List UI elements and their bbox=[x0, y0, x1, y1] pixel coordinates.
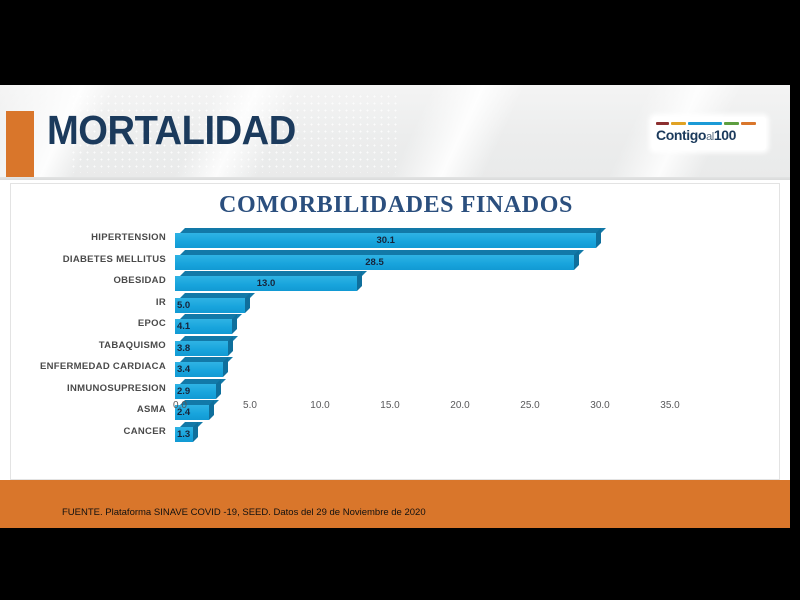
bar-category-label: EPOC bbox=[11, 314, 166, 334]
screenshot-canvas: MORTALIDAD Contigoal100 COMORBILIDADES F… bbox=[0, 0, 800, 600]
logo-dash-2 bbox=[688, 122, 722, 125]
x-axis-tick-label: 25.0 bbox=[520, 400, 539, 411]
bar-side-face bbox=[228, 336, 233, 356]
bar-side-face bbox=[357, 271, 362, 291]
bar-category-label: DIABETES MELLITUS bbox=[11, 250, 166, 270]
x-axis-tick-label: 5.0 bbox=[243, 400, 257, 411]
bar-category-label: ENFERMEDAD CARDIACA bbox=[11, 357, 166, 377]
logo-word-al: al bbox=[706, 131, 714, 143]
logo-dash-4 bbox=[741, 122, 756, 125]
x-axis-tick-label: 15.0 bbox=[380, 400, 399, 411]
bar[interactable]: 3.4 bbox=[175, 357, 228, 377]
bar-value-label: 4.1 bbox=[177, 319, 232, 334]
bar-value-label: 5.0 bbox=[177, 298, 245, 313]
bar-side-face bbox=[232, 314, 237, 334]
logo-dash-0 bbox=[656, 122, 669, 125]
logo-word-contigo: Contigo bbox=[656, 127, 706, 143]
page-title: MORTALIDAD bbox=[47, 110, 296, 151]
logo-dash-1 bbox=[671, 122, 686, 125]
bar-row: TABAQUISMO3.8 bbox=[11, 336, 781, 356]
bar-row: CANCER1.3 bbox=[11, 422, 781, 442]
bar-row: IR5.0 bbox=[11, 293, 781, 313]
chart-title: COMORBILIDADES FINADOS bbox=[11, 192, 781, 219]
bar-chart-plot-area: HIPERTENSION30.1DIABETES MELLITUS28.5OBE… bbox=[11, 228, 781, 478]
bar-value-label: 30.1 bbox=[175, 233, 596, 248]
logo-dash-3 bbox=[724, 122, 739, 125]
bar-row: ENFERMEDAD CARDIACA3.4 bbox=[11, 357, 781, 377]
bar-value-label: 1.3 bbox=[177, 427, 197, 442]
bar[interactable]: 2.9 bbox=[175, 379, 221, 399]
contigo-al-100-logo: Contigoal100 bbox=[652, 117, 766, 150]
slide-header: MORTALIDAD Contigoal100 bbox=[0, 85, 790, 180]
x-axis-tick-label: 30.0 bbox=[590, 400, 609, 411]
bar[interactable]: 28.5 bbox=[175, 250, 579, 270]
bar-row: EPOC4.1 bbox=[11, 314, 781, 334]
bar-category-label: HIPERTENSION bbox=[11, 228, 166, 248]
x-axis-tick-label: 0.0 bbox=[173, 400, 187, 411]
presentation-slide: MORTALIDAD Contigoal100 COMORBILIDADES F… bbox=[0, 85, 790, 528]
bar-category-label: OBESIDAD bbox=[11, 271, 166, 291]
chart-panel: COMORBILIDADES FINADOS HIPERTENSION30.1D… bbox=[10, 183, 780, 480]
bar[interactable]: 30.1 bbox=[175, 228, 601, 248]
bar-side-face bbox=[596, 228, 601, 248]
logo-word-100: 100 bbox=[714, 127, 736, 143]
x-axis-tick-label: 35.0 bbox=[660, 400, 679, 411]
bar[interactable]: 1.3 bbox=[175, 422, 198, 442]
title-accent-bar bbox=[6, 111, 34, 178]
bar-value-label: 13.0 bbox=[175, 276, 357, 291]
header-divider bbox=[0, 177, 790, 180]
bar-value-label: 2.9 bbox=[177, 384, 216, 399]
x-axis-tick-label: 10.0 bbox=[310, 400, 329, 411]
bar-row: DIABETES MELLITUS28.5 bbox=[11, 250, 781, 270]
bar[interactable]: 4.1 bbox=[175, 314, 237, 334]
x-axis-tick-label: 20.0 bbox=[450, 400, 469, 411]
x-axis: 0.05.010.015.020.025.030.035.0 bbox=[11, 400, 781, 420]
bar[interactable]: 5.0 bbox=[175, 293, 250, 313]
bar-value-label: 3.8 bbox=[177, 341, 228, 356]
bar-category-label: CANCER bbox=[11, 422, 166, 442]
slide-footer-band: FUENTE. Plataforma SINAVE COVID -19, SEE… bbox=[0, 480, 790, 528]
bar-row: OBESIDAD13.0 bbox=[11, 271, 781, 291]
source-note: FUENTE. Plataforma SINAVE COVID -19, SEE… bbox=[62, 507, 426, 518]
bar-category-label: IR bbox=[11, 293, 166, 313]
logo-dashes bbox=[656, 121, 762, 125]
bar-row: INMUNOSUPRESION2.9 bbox=[11, 379, 781, 399]
bar-row: HIPERTENSION30.1 bbox=[11, 228, 781, 248]
bar-value-label: 28.5 bbox=[175, 255, 574, 270]
bar-category-label: TABAQUISMO bbox=[11, 336, 166, 356]
bar-value-label: 3.4 bbox=[177, 362, 223, 377]
bar[interactable]: 3.8 bbox=[175, 336, 233, 356]
bar-side-face bbox=[574, 250, 579, 270]
bar-side-face bbox=[223, 357, 228, 377]
bar-side-face bbox=[245, 293, 250, 313]
bar[interactable]: 13.0 bbox=[175, 271, 362, 291]
logo-wordmark: Contigoal100 bbox=[656, 126, 763, 146]
bar-category-label: INMUNOSUPRESION bbox=[11, 379, 166, 399]
